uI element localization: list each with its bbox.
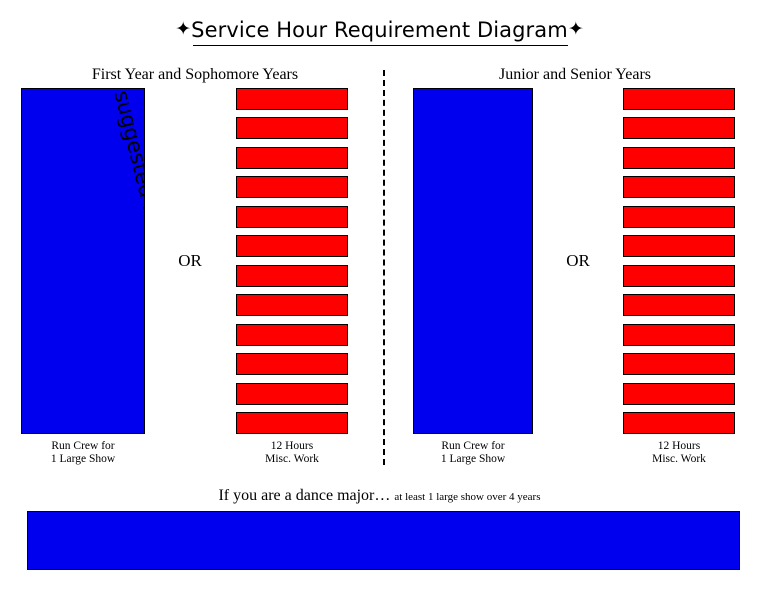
hour-bar [236,353,348,375]
hour-bar [236,147,348,169]
run-crew-block-right [413,88,533,434]
hour-bar [236,412,348,434]
hour-bar [623,206,735,228]
sparkle-left-icon: ✦ [175,18,191,40]
caption-misc-hours-right: 12 Hours Misc. Work [623,440,735,466]
caption-run-crew-right: Run Crew for 1 Large Show [413,440,533,466]
hour-bar [623,176,735,198]
caption-run-crew-left: Run Crew for 1 Large Show [21,440,145,466]
caption-line-2: Misc. Work [236,453,348,466]
hour-bar [236,294,348,316]
caption-line-1: 12 Hours [236,440,348,453]
hour-bar [623,235,735,257]
page-title: ✦Service Hour Requirement Diagram✦ [0,18,759,42]
hour-bar [236,383,348,405]
suggested-first-year-project-label: suggested for 1st Year Project [109,88,145,414]
or-connector-left: OR [160,251,220,271]
hour-bar [236,88,348,110]
hour-bar [623,265,735,287]
or-connector-right: OR [548,251,608,271]
caption-line-1: 12 Hours [623,440,735,453]
hour-bar [623,324,735,346]
hour-bar-stack-right [623,88,735,434]
hour-bar [623,383,735,405]
hour-bar [236,117,348,139]
hour-bar [623,412,735,434]
hour-bar-stack-left [236,88,348,434]
dance-major-large-show-block [27,511,740,570]
caption-line-2: 1 Large Show [21,453,145,466]
dance-major-sub-text: at least 1 large show over 4 years [394,491,540,503]
caption-line-2: 1 Large Show [413,453,533,466]
caption-line-1: Run Crew for [413,440,533,453]
title-underline [193,45,567,46]
hour-bar [623,117,735,139]
hour-bar [623,353,735,375]
section-header-first-year-sophomore: First Year and Sophomore Years [20,66,370,84]
hour-bar [236,176,348,198]
section-divider [383,70,385,465]
hour-bar [236,324,348,346]
hour-bar [236,235,348,257]
dance-major-main-text: If you are a dance major… [218,487,390,504]
hour-bar [236,265,348,287]
page-title-text: Service Hour Requirement Diagram [191,18,568,42]
dance-major-note: If you are a dance major…at least 1 larg… [0,487,759,505]
caption-line-1: Run Crew for [21,440,145,453]
sparkle-right-icon: ✦ [568,18,584,40]
hour-bar [623,147,735,169]
hour-bar [623,88,735,110]
hour-bar [623,294,735,316]
caption-misc-hours-left: 12 Hours Misc. Work [236,440,348,466]
hour-bar [236,206,348,228]
caption-line-2: Misc. Work [623,453,735,466]
run-crew-block-left: suggested for 1st Year Project [21,88,145,434]
section-header-junior-senior: Junior and Senior Years [400,66,750,84]
